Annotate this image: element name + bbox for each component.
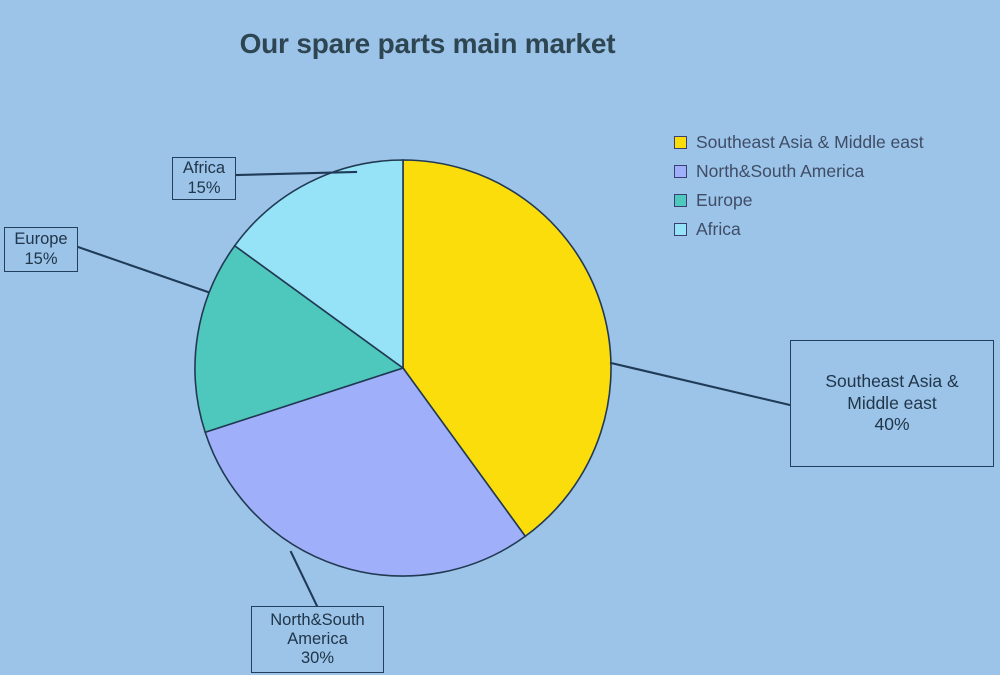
pie-chart	[0, 0, 1000, 675]
callout-north-south-america[interactable]: North&South America 30%	[251, 606, 384, 673]
callout-sea-name-line1: Southeast Asia &	[825, 371, 958, 392]
callout-africa-value: 15%	[187, 179, 220, 198]
callout-sea-value: 40%	[874, 414, 909, 435]
legend-label-europe: Europe	[696, 192, 752, 210]
callout-america-name-line2: America	[287, 630, 348, 649]
callout-america-value: 30%	[301, 649, 334, 668]
legend-item-europe[interactable]: Europe	[674, 186, 984, 215]
callout-america-name-line1: North&South	[270, 611, 364, 630]
pie-slice-group	[195, 160, 611, 576]
leader-line-sea	[611, 363, 790, 405]
callout-europe-value: 15%	[24, 250, 57, 269]
legend-label-north-south-america: North&South America	[696, 163, 864, 181]
callout-southeast-asia[interactable]: Southeast Asia & Middle east 40%	[790, 340, 994, 467]
slide-canvas: Our spare parts main market Southeast As…	[0, 0, 1000, 675]
legend-label-africa: Africa	[696, 221, 741, 239]
chart-legend: Southeast Asia & Middle east North&South…	[674, 128, 984, 244]
leader-line-europe	[78, 247, 208, 292]
callout-africa[interactable]: Africa 15%	[172, 157, 236, 200]
leader-line-america	[291, 552, 317, 606]
callout-sea-name-line2: Middle east	[847, 393, 937, 414]
legend-swatch-cyan	[674, 223, 687, 236]
callout-europe[interactable]: Europe 15%	[4, 227, 78, 272]
legend-item-southeast-asia[interactable]: Southeast Asia & Middle east	[674, 128, 984, 157]
legend-item-africa[interactable]: Africa	[674, 215, 984, 244]
legend-swatch-teal	[674, 194, 687, 207]
legend-item-north-south-america[interactable]: North&South America	[674, 157, 984, 186]
legend-swatch-periwinkle	[674, 165, 687, 178]
callout-africa-name: Africa	[183, 159, 225, 178]
callout-europe-name: Europe	[14, 230, 67, 249]
legend-swatch-yellow	[674, 136, 687, 149]
legend-label-southeast-asia: Southeast Asia & Middle east	[696, 134, 924, 152]
